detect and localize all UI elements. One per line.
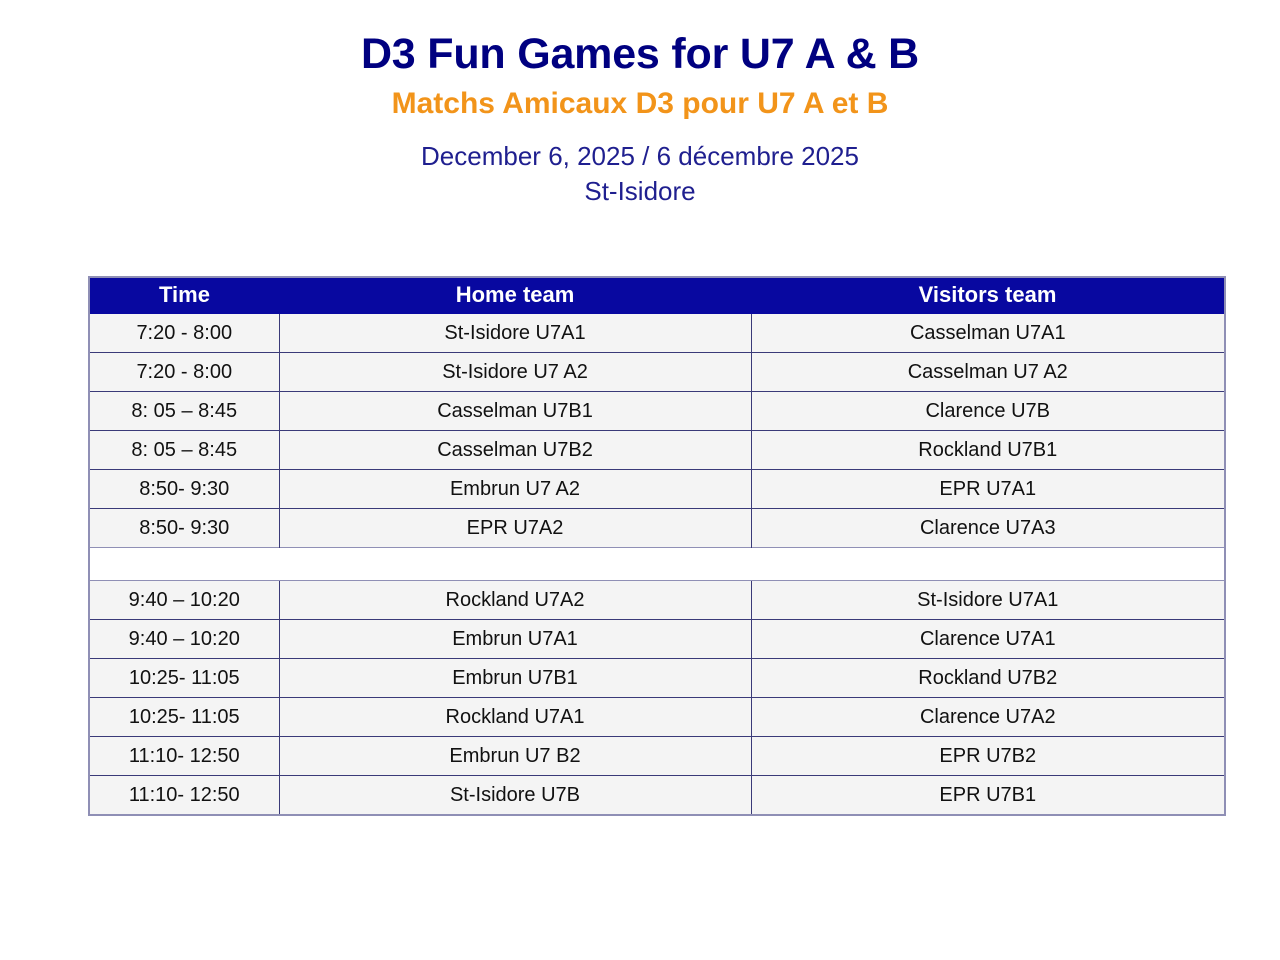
- table-row: 11:10- 12:50Embrun U7 B2EPR U7B2: [89, 737, 1225, 776]
- cell-visitors-team: Casselman U7A1: [751, 314, 1225, 353]
- cell-time: 8: 05 – 8:45: [89, 392, 279, 431]
- cell-visitors-team: Casselman U7 A2: [751, 353, 1225, 392]
- cell-visitors-team: Rockland U7B2: [751, 659, 1225, 698]
- cell-time: 7:20 - 8:00: [89, 314, 279, 353]
- cell-visitors-team: EPR U7A1: [751, 470, 1225, 509]
- schedule-table: Time Home team Visitors team 7:20 - 8:00…: [88, 276, 1226, 816]
- cell-home-team: Casselman U7B2: [279, 431, 751, 470]
- table-row: 11:10- 12:50St-Isidore U7BEPR U7B1: [89, 776, 1225, 816]
- table-row: 8: 05 – 8:45Casselman U7B2Rockland U7B1: [89, 431, 1225, 470]
- schedule-table-head: Time Home team Visitors team: [89, 277, 1225, 314]
- table-row: 9:40 – 10:20Rockland U7A2St-Isidore U7A1: [89, 581, 1225, 620]
- event-location: St-Isidore: [0, 176, 1280, 208]
- cell-visitors-team: Clarence U7B: [751, 392, 1225, 431]
- schedule-table-body: 7:20 - 8:00St-Isidore U7A1Casselman U7A1…: [89, 314, 1225, 815]
- cell-visitors-team: Clarence U7A1: [751, 620, 1225, 659]
- page-title-french: Matchs Amicaux D3 pour U7 A et B: [0, 86, 1280, 122]
- cell-home-team: Rockland U7A2: [279, 581, 751, 620]
- cell-visitors-team: EPR U7B2: [751, 737, 1225, 776]
- cell-home-team: Embrun U7 A2: [279, 470, 751, 509]
- cell-time: 9:40 – 10:20: [89, 620, 279, 659]
- cell-time: 11:10- 12:50: [89, 737, 279, 776]
- cell-time: 7:20 - 8:00: [89, 353, 279, 392]
- table-row: 7:20 - 8:00St-Isidore U7 A2Casselman U7 …: [89, 353, 1225, 392]
- cell-time: 10:25- 11:05: [89, 659, 279, 698]
- cell-home-team: Embrun U7 B2: [279, 737, 751, 776]
- schedule-table-wrapper: Time Home team Visitors team 7:20 - 8:00…: [88, 276, 1224, 816]
- table-spacer-cell: [89, 548, 1225, 581]
- cell-home-team: St-Isidore U7 A2: [279, 353, 751, 392]
- cell-home-team: EPR U7A2: [279, 509, 751, 548]
- cell-visitors-team: Clarence U7A3: [751, 509, 1225, 548]
- table-row: 8: 05 – 8:45Casselman U7B1Clarence U7B: [89, 392, 1225, 431]
- table-row: 9:40 – 10:20Embrun U7A1Clarence U7A1: [89, 620, 1225, 659]
- page-title-english: D3 Fun Games for U7 A & B: [0, 30, 1280, 78]
- cell-home-team: Rockland U7A1: [279, 698, 751, 737]
- table-row: 8:50- 9:30EPR U7A2Clarence U7A3: [89, 509, 1225, 548]
- cell-home-team: St-Isidore U7B: [279, 776, 751, 816]
- cell-home-team: Embrun U7A1: [279, 620, 751, 659]
- event-date: December 6, 2025 / 6 décembre 2025: [0, 141, 1280, 173]
- cell-time: 10:25- 11:05: [89, 698, 279, 737]
- cell-visitors-team: St-Isidore U7A1: [751, 581, 1225, 620]
- column-header-home-team: Home team: [279, 277, 751, 314]
- cell-time: 8: 05 – 8:45: [89, 431, 279, 470]
- table-header-row: Time Home team Visitors team: [89, 277, 1225, 314]
- cell-time: 9:40 – 10:20: [89, 581, 279, 620]
- cell-visitors-team: EPR U7B1: [751, 776, 1225, 816]
- cell-visitors-team: Rockland U7B1: [751, 431, 1225, 470]
- table-row: 10:25- 11:05Embrun U7B1Rockland U7B2: [89, 659, 1225, 698]
- table-row: 10:25- 11:05Rockland U7A1Clarence U7A2: [89, 698, 1225, 737]
- schedule-page: D3 Fun Games for U7 A & B Matchs Amicaux…: [0, 0, 1280, 960]
- cell-home-team: Embrun U7B1: [279, 659, 751, 698]
- cell-home-team: St-Isidore U7A1: [279, 314, 751, 353]
- cell-home-team: Casselman U7B1: [279, 392, 751, 431]
- cell-visitors-team: Clarence U7A2: [751, 698, 1225, 737]
- table-row: 7:20 - 8:00St-Isidore U7A1Casselman U7A1: [89, 314, 1225, 353]
- cell-time: 8:50- 9:30: [89, 509, 279, 548]
- title-block: D3 Fun Games for U7 A & B Matchs Amicaux…: [0, 0, 1280, 208]
- cell-time: 8:50- 9:30: [89, 470, 279, 509]
- table-row: 8:50- 9:30Embrun U7 A2EPR U7A1: [89, 470, 1225, 509]
- column-header-visitors-team: Visitors team: [751, 277, 1225, 314]
- cell-time: 11:10- 12:50: [89, 776, 279, 816]
- column-header-time: Time: [89, 277, 279, 314]
- table-spacer-row: [89, 548, 1225, 581]
